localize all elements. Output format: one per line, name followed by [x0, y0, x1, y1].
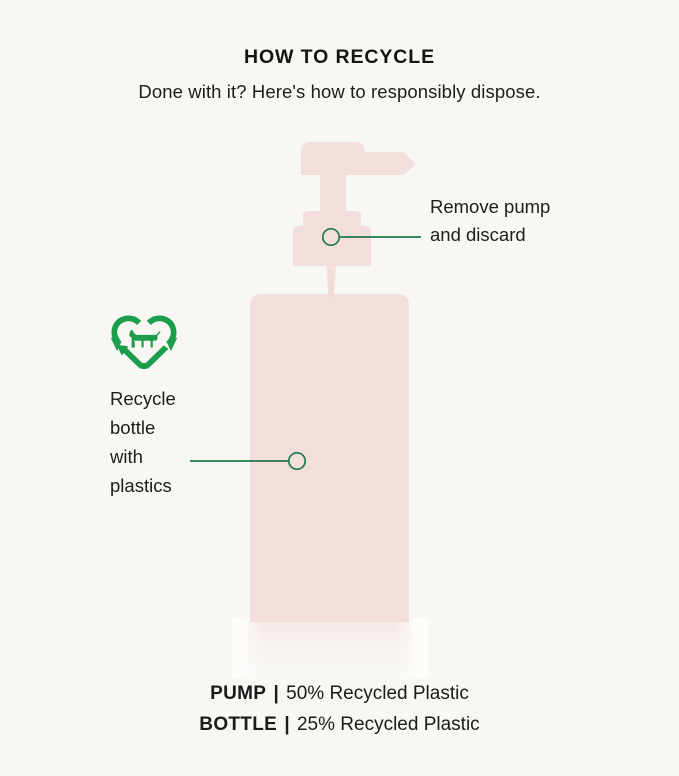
- callout-dot-pump: [323, 229, 339, 245]
- leader-line-pump: [323, 229, 421, 245]
- material-specs: PUMP | 50% Recycled Plastic BOTTLE | 25%…: [0, 678, 679, 740]
- pump-nozzle: [363, 152, 416, 175]
- dog-silhouette-icon: [129, 330, 160, 347]
- spec-value-pump: 50% Recycled Plastic: [286, 683, 469, 704]
- pump-dip-tube: [326, 266, 336, 296]
- spec-row-pump: PUMP | 50% Recycled Plastic: [0, 678, 679, 709]
- callout-pump-line2: and discard: [430, 221, 550, 249]
- pump-stem: [320, 172, 346, 216]
- recycle-heart-dog-icon: [108, 308, 180, 372]
- recycle-infographic: HOW TO RECYCLE Done with it? Here's how …: [0, 0, 679, 776]
- bottle-reflection: [232, 618, 428, 678]
- header: HOW TO RECYCLE Done with it? Here's how …: [0, 47, 679, 103]
- page-subtitle: Done with it? Here's how to responsibly …: [0, 68, 679, 102]
- pump-tube-lower: [328, 270, 334, 298]
- callout-pump-label: Remove pump and discard: [430, 193, 550, 249]
- callout-dot-bottle: [289, 453, 305, 469]
- bottle-body: [250, 294, 409, 622]
- spec-separator-bottle: |: [282, 714, 291, 735]
- pump-bottle-illustration: [0, 0, 679, 776]
- spec-separator-pump: |: [272, 683, 281, 704]
- spec-row-bottle: BOTTLE | 25% Recycled Plastic: [0, 709, 679, 740]
- callout-bottle-line2: bottle: [110, 413, 220, 442]
- callout-bottle-line3: with: [110, 442, 220, 471]
- callout-bottle-label: Recycle bottle with plastics: [110, 384, 220, 500]
- spec-key-bottle: BOTTLE: [199, 714, 277, 735]
- spec-value-bottle: 25% Recycled Plastic: [297, 714, 480, 735]
- callout-bottle-line1: Recycle: [110, 384, 220, 413]
- pump-neck: [303, 211, 361, 232]
- spec-key-pump: PUMP: [210, 683, 266, 704]
- callout-bottle-line4: plastics: [110, 471, 220, 500]
- pump-head-cap: [301, 142, 365, 175]
- callout-pump-line1: Remove pump: [430, 193, 550, 221]
- pump-collar: [293, 226, 371, 266]
- page-title: HOW TO RECYCLE: [0, 47, 679, 68]
